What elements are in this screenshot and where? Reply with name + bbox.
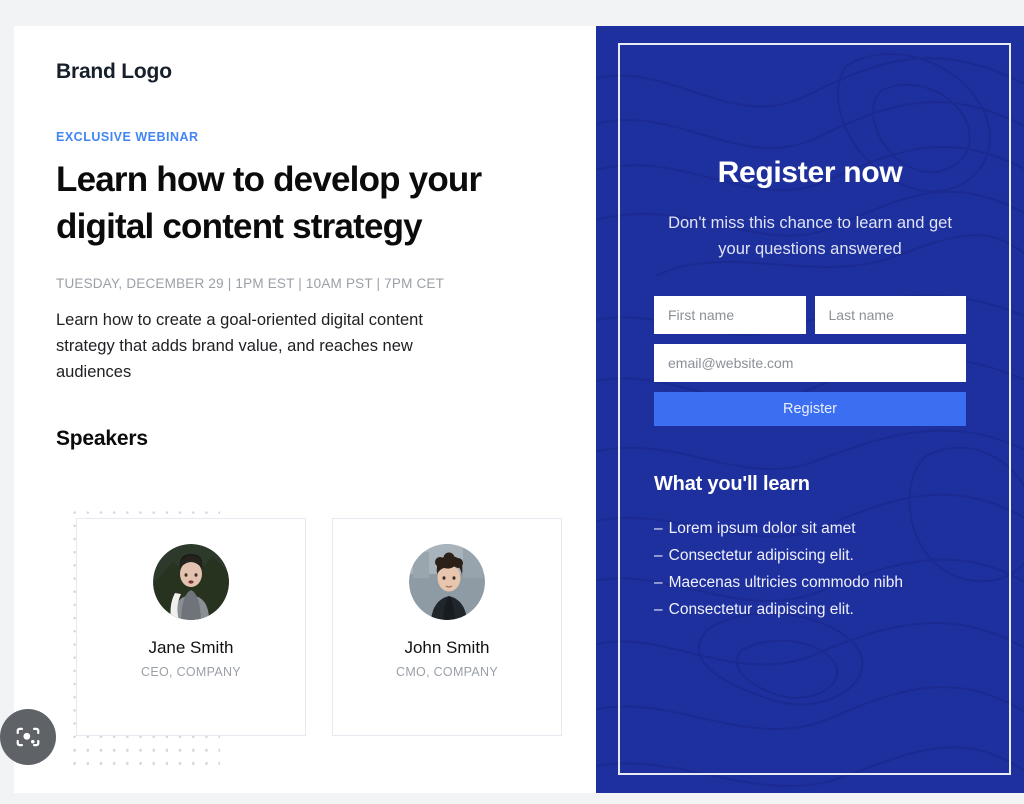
speakers-list: Jane Smith CEO, COMPANY xyxy=(76,518,562,736)
google-lens-search-icon xyxy=(14,723,42,751)
bullet-dash: – xyxy=(654,547,663,564)
register-button[interactable]: Register xyxy=(654,392,966,426)
speakers-heading: Speakers xyxy=(56,427,556,451)
list-item: –Lorem ipsum dolor sit amet xyxy=(654,515,966,542)
bullet-dash: – xyxy=(654,574,663,591)
list-item-label: Consectetur adipiscing elit. xyxy=(669,547,854,564)
register-panel: Register now Don't miss this chance to l… xyxy=(596,26,1024,793)
name-fields-row xyxy=(654,296,966,334)
google-lens-button[interactable] xyxy=(0,709,56,765)
list-item-label: Lorem ipsum dolor sit amet xyxy=(669,520,856,537)
eyebrow-label: EXCLUSIVE WEBINAR xyxy=(56,130,556,144)
what-you-will-learn-heading: What you'll learn xyxy=(654,473,966,496)
webinar-landing-card: Brand Logo EXCLUSIVE WEBINAR Learn how t… xyxy=(14,26,1024,793)
registration-form: Register xyxy=(654,296,966,426)
speaker-name: John Smith xyxy=(404,638,489,658)
last-name-input[interactable] xyxy=(815,296,967,334)
email-input[interactable] xyxy=(654,344,966,382)
webinar-description: Learn how to create a goal-oriented digi… xyxy=(56,307,456,385)
speaker-card[interactable]: Jane Smith CEO, COMPANY xyxy=(76,518,306,736)
speaker-name: Jane Smith xyxy=(148,638,233,658)
first-name-input[interactable] xyxy=(654,296,806,334)
landing-page-screenshot: Brand Logo EXCLUSIVE WEBINAR Learn how t… xyxy=(0,0,1024,804)
list-item-label: Consectetur adipiscing elit. xyxy=(669,601,854,618)
bullet-dash: – xyxy=(654,520,663,537)
list-item-label: Maecenas ultricies commodo nibh xyxy=(669,574,903,591)
brand-logo[interactable]: Brand Logo xyxy=(56,60,556,84)
register-title: Register now xyxy=(654,156,966,190)
page-title: Learn how to develop your digital conten… xyxy=(56,156,516,250)
speaker-role: CEO, COMPANY xyxy=(141,665,241,679)
register-panel-content: Register now Don't miss this chance to l… xyxy=(596,26,1024,623)
speaker-card[interactable]: John Smith CMO, COMPANY xyxy=(332,518,562,736)
list-item: –Consectetur adipiscing elit. xyxy=(654,596,966,623)
avatar xyxy=(153,544,229,620)
speaker-role: CMO, COMPANY xyxy=(396,665,498,679)
bullet-dash: – xyxy=(654,601,663,618)
dot-pattern-decoration-bottom xyxy=(68,744,220,770)
webinar-datetime: TUESDAY, DECEMBER 29 | 1PM EST | 10AM PS… xyxy=(56,276,556,291)
list-item: –Maecenas ultricies commodo nibh xyxy=(654,569,966,596)
avatar xyxy=(409,544,485,620)
register-subtitle: Don't miss this chance to learn and get … xyxy=(654,210,966,262)
list-item: –Consectetur adipiscing elit. xyxy=(654,542,966,569)
what-you-will-learn-list: –Lorem ipsum dolor sit amet –Consectetur… xyxy=(654,515,966,623)
